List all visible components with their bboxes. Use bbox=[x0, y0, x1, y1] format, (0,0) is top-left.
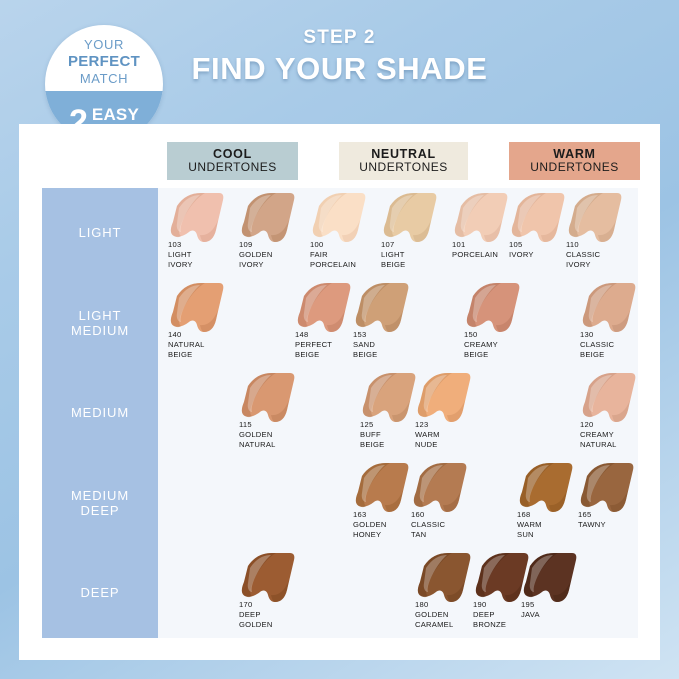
foundation-smear-icon bbox=[577, 462, 641, 514]
badge-line-2: PERFECT bbox=[45, 53, 163, 71]
row-label-light: LIGHT bbox=[42, 188, 158, 278]
shade-label: 101 PORCELAIN bbox=[452, 240, 498, 260]
shade-label: 168 WARM SUN bbox=[517, 510, 542, 541]
shade-label: 180 GOLDEN CARAMEL bbox=[415, 600, 453, 631]
shade-swatch-107[interactable]: 107 LIGHT BEIGE bbox=[380, 188, 452, 278]
shade-swatch-130[interactable]: 130 CLASSIC BEIGE bbox=[579, 278, 651, 368]
foundation-smear-icon bbox=[352, 462, 416, 514]
shade-label: 110 CLASSIC IVORY bbox=[566, 240, 600, 271]
shade-label: 165 TAWNY bbox=[578, 510, 606, 530]
shade-label: 107 LIGHT BEIGE bbox=[381, 240, 405, 271]
undertone-name: COOL bbox=[213, 148, 252, 162]
shade-swatch-160[interactable]: 160 CLASSIC TAN bbox=[410, 458, 482, 548]
shade-swatch-170[interactable]: 170 DEEP GOLDEN bbox=[238, 548, 310, 638]
undertone-sublabel: UNDERTONES bbox=[530, 161, 619, 174]
shade-label: 123 WARM NUDE bbox=[415, 420, 440, 451]
foundation-smear-icon bbox=[565, 192, 629, 244]
foundation-smear-icon bbox=[309, 192, 373, 244]
foundation-smear-icon bbox=[167, 282, 231, 334]
shade-swatch-153[interactable]: 153 SAND BEIGE bbox=[352, 278, 424, 368]
foundation-smear-icon bbox=[414, 552, 478, 604]
undertone-name: WARM bbox=[553, 148, 595, 162]
shade-label: 170 DEEP GOLDEN bbox=[239, 600, 273, 631]
foundation-smear-icon bbox=[516, 462, 580, 514]
shade-label: 190 DEEP BRONZE bbox=[473, 600, 506, 631]
undertone-header-neutral: NEUTRALUNDERTONES bbox=[339, 142, 468, 180]
undertone-header-row: COOLUNDERTONESNEUTRALUNDERTONESWARMUNDER… bbox=[19, 124, 660, 188]
shade-label: 153 SAND BEIGE bbox=[353, 330, 377, 361]
foundation-smear-icon bbox=[520, 552, 584, 604]
shade-label: 163 GOLDEN HONEY bbox=[353, 510, 387, 541]
foundation-smear-icon bbox=[238, 372, 302, 424]
shade-row: MEDIUM115 GOLDEN NATURAL125 BUFF BEIGE12… bbox=[19, 368, 660, 458]
undertone-sublabel: UNDERTONES bbox=[359, 161, 448, 174]
shade-swatch-110[interactable]: 110 CLASSIC IVORY bbox=[565, 188, 637, 278]
foundation-smear-icon bbox=[414, 372, 478, 424]
foundation-smear-icon bbox=[410, 462, 474, 514]
row-label-deep: DEEP bbox=[42, 548, 158, 638]
shade-swatch-109[interactable]: 109 GOLDEN IVORY bbox=[238, 188, 310, 278]
shade-row: DEEP170 DEEP GOLDEN180 GOLDEN CARAMEL190… bbox=[19, 548, 660, 638]
foundation-smear-icon bbox=[167, 192, 231, 244]
shade-label: 125 BUFF BEIGE bbox=[360, 420, 384, 451]
badge-top-text: YOUR PERFECT MATCH bbox=[45, 37, 163, 87]
shade-label: 109 GOLDEN IVORY bbox=[239, 240, 273, 271]
foundation-smear-icon bbox=[352, 282, 416, 334]
header-banner: STEP 2 FIND YOUR SHADE YOUR PERFECT MATC… bbox=[0, 0, 679, 128]
badge-line-1: YOUR bbox=[45, 37, 163, 53]
foundation-smear-icon bbox=[579, 282, 643, 334]
shade-swatch-140[interactable]: 140 NATURAL BEIGE bbox=[167, 278, 239, 368]
shade-swatch-195[interactable]: 195 JAVA bbox=[520, 548, 592, 638]
shade-chart-card: COOLUNDERTONESNEUTRALUNDERTONESWARMUNDER… bbox=[19, 124, 660, 660]
shade-row: MEDIUM DEEP163 GOLDEN HONEY160 CLASSIC T… bbox=[19, 458, 660, 548]
shade-swatch-120[interactable]: 120 CREAMY NATURAL bbox=[579, 368, 651, 458]
shade-swatch-115[interactable]: 115 GOLDEN NATURAL bbox=[238, 368, 310, 458]
undertone-header-cool: COOLUNDERTONES bbox=[167, 142, 298, 180]
foundation-smear-icon bbox=[294, 282, 358, 334]
shade-swatch-123[interactable]: 123 WARM NUDE bbox=[414, 368, 486, 458]
shade-label: 120 CREAMY NATURAL bbox=[580, 420, 617, 451]
shade-label: 148 PERFECT BEIGE bbox=[295, 330, 332, 361]
shade-row: LIGHT103 LIGHT IVORY109 GOLDEN IVORY100 … bbox=[19, 188, 660, 278]
foundation-smear-icon bbox=[463, 282, 527, 334]
foundation-smear-icon bbox=[451, 192, 515, 244]
shade-label: 195 JAVA bbox=[521, 600, 540, 620]
undertone-name: NEUTRAL bbox=[371, 148, 436, 162]
shade-label: 103 LIGHT IVORY bbox=[168, 240, 193, 271]
undertone-header-warm: WARMUNDERTONES bbox=[509, 142, 640, 180]
row-label-medium: MEDIUM bbox=[42, 368, 158, 458]
shade-label: 130 CLASSIC BEIGE bbox=[580, 330, 614, 361]
shade-swatch-150[interactable]: 150 CREAMY BEIGE bbox=[463, 278, 535, 368]
foundation-smear-icon bbox=[579, 372, 643, 424]
badge-line-3: MATCH bbox=[45, 71, 163, 87]
shade-label: 100 FAIR PORCELAIN bbox=[310, 240, 356, 271]
shade-swatch-103[interactable]: 103 LIGHT IVORY bbox=[167, 188, 239, 278]
row-label-medium-deep: MEDIUM DEEP bbox=[42, 458, 158, 548]
shade-swatch-100[interactable]: 100 FAIR PORCELAIN bbox=[309, 188, 381, 278]
shade-label: 150 CREAMY BEIGE bbox=[464, 330, 498, 361]
shade-label: 115 GOLDEN NATURAL bbox=[239, 420, 276, 451]
shade-label: 160 CLASSIC TAN bbox=[411, 510, 445, 541]
foundation-smear-icon bbox=[380, 192, 444, 244]
badge-word-easy: EASY bbox=[92, 106, 139, 123]
foundation-smear-icon bbox=[238, 192, 302, 244]
undertone-sublabel: UNDERTONES bbox=[188, 161, 277, 174]
row-label-light-medium: LIGHT MEDIUM bbox=[42, 278, 158, 368]
foundation-smear-icon bbox=[508, 192, 572, 244]
shade-row: LIGHT MEDIUM140 NATURAL BEIGE148 PERFECT… bbox=[19, 278, 660, 368]
shade-swatch-165[interactable]: 165 TAWNY bbox=[577, 458, 649, 548]
foundation-smear-icon bbox=[238, 552, 302, 604]
shade-label: 105 IVORY bbox=[509, 240, 534, 260]
shade-label: 140 NATURAL BEIGE bbox=[168, 330, 205, 361]
